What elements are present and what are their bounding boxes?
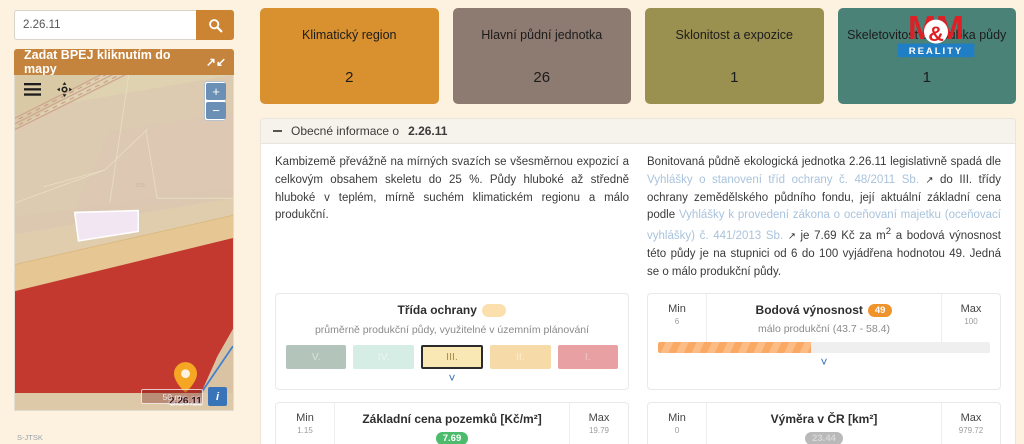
stat-center: Bodová výnosnost49 málo produkční (43.7 …	[706, 294, 942, 342]
class-panel-body: Třída ochranyIII. průměrně produkční půd…	[276, 294, 628, 369]
stat-center: Výměra v ČR [km²] 23.44	[706, 403, 942, 444]
summary-cards: Klimatický region 2 Hlavní půdní jednotk…	[244, 8, 1016, 104]
search-input[interactable]	[14, 10, 196, 40]
stat-progress-track	[658, 342, 990, 353]
card-skeletovitost-a-hloubka-pudy[interactable]: Skeletovitost a hloubka půdy 1	[838, 8, 1017, 104]
class-button-i[interactable]: I.	[558, 345, 618, 369]
class-button-iv[interactable]: IV.	[353, 345, 413, 369]
card-sklonitost-a-expozice[interactable]: Sklonitost a expozice 1	[645, 8, 824, 104]
stat-badge: 23.44	[805, 432, 843, 444]
min-label: Min	[650, 412, 704, 424]
stat-title-text: Bodová výnosnost	[756, 303, 863, 317]
panel-bodova-vynosnost: Min 6 Bodová výnosnost49 málo produkční …	[647, 293, 1001, 390]
class-panel-title: Třída ochranyIII.	[286, 303, 618, 317]
class-buttons-row: V. IV. III. II. I.	[286, 345, 618, 369]
left-description: Kambizemě převážně na mírných svazích se…	[275, 154, 629, 282]
content-column: Klimatický region 2 Hlavní půdní jednotk…	[244, 0, 1024, 444]
map-info-button[interactable]: i	[208, 387, 227, 406]
stat-max: Max 100	[942, 294, 1000, 342]
card-value: 26	[533, 69, 550, 86]
stats-grid: Třída ochranyIII. průměrně produkční půd…	[275, 293, 1001, 444]
stat-min: Min 1.15	[276, 403, 334, 444]
pick-on-map-label: Zadat BPEJ kliknutím do mapy	[24, 48, 206, 76]
card-value: 1	[730, 69, 738, 86]
min-label: Min	[650, 303, 704, 315]
search-icon	[208, 18, 223, 33]
card-title: Skeletovitost a hloubka půdy	[847, 28, 1006, 43]
card-title: Sklonitost a expozice	[676, 28, 793, 43]
class-button-label: II.	[516, 351, 525, 363]
chevron-down-icon[interactable]: ˅	[276, 369, 628, 389]
link-vyhlaska-48-2011[interactable]: Vyhlášky o stanovení tříd ochrany č. 48/…	[647, 174, 919, 186]
map-tiles: 215	[15, 75, 233, 393]
card-title: Klimatický region	[302, 28, 396, 43]
right-text-3: je 7.69 Kč za m	[796, 230, 886, 242]
stat-badge: 49	[868, 304, 893, 317]
card-value: 1	[923, 69, 931, 86]
map-scale-bar: 50 m	[141, 389, 203, 404]
stat-max: Max 19.79	[570, 403, 628, 444]
minus-icon[interactable]	[273, 130, 282, 132]
class-button-iii[interactable]: III.	[421, 345, 483, 369]
stat-badge-wrap: 23.44	[711, 426, 937, 444]
crosshair-locate-icon[interactable]	[57, 82, 72, 97]
class-button-label: I.	[585, 351, 591, 363]
map-left-controls	[24, 82, 72, 97]
class-button-label: IV.	[378, 351, 390, 363]
map-canvas[interactable]: 215	[14, 75, 234, 411]
description-columns: Kambizemě převážně na mírných svazích se…	[275, 154, 1001, 282]
svg-text:215: 215	[135, 183, 144, 189]
stat-subtitle: málo produkční (43.7 - 58.4)	[711, 323, 937, 335]
stat-min: Min 0	[648, 403, 706, 444]
stat-min: Min 6	[648, 294, 706, 342]
map-zoom-controls: + −	[204, 81, 226, 121]
chevron-down-icon[interactable]: ˅	[648, 353, 1000, 373]
max-value: 979.72	[944, 426, 998, 435]
right-text-1: Bonitovaná půdně ekologická jednotka 2.2…	[647, 156, 1001, 168]
stat-header: Min 1.15 Základní cena pozemků [Kč/m²] 7…	[276, 403, 628, 444]
stat-title: Bodová výnosnost49	[711, 303, 937, 317]
max-label: Max	[944, 412, 998, 424]
stat-badge-wrap: 7.69	[339, 426, 565, 444]
right-description: Bonitovaná půdně ekologická jednotka 2.2…	[647, 154, 1001, 282]
section-title-code: 2.26.11	[408, 124, 447, 138]
bpej-app: Zadat BPEJ kliknutím do mapy ↗↙	[0, 0, 1024, 444]
card-hlavni-pudni-jednotka[interactable]: Hlavní půdní jednotka 26	[453, 8, 632, 104]
search-button[interactable]	[196, 10, 234, 40]
map-scale-label: 50 m	[163, 392, 182, 402]
max-value: 19.79	[572, 426, 626, 435]
stat-progress-fill	[658, 342, 811, 353]
stat-max: Max 979.72	[942, 403, 1000, 444]
stat-header: Min 6 Bodová výnosnost49 málo produkční …	[648, 294, 1000, 342]
panel-trida-ochrany: Třída ochranyIII. průměrně produkční půd…	[275, 293, 629, 390]
class-button-label: III.	[446, 351, 458, 363]
stat-center: Základní cena pozemků [Kč/m²] 7.69	[334, 403, 570, 444]
stat-header: Min 0 Výměra v ČR [km²] 23.44 Max 979.72	[648, 403, 1000, 444]
max-value: 100	[944, 317, 998, 326]
min-label: Min	[278, 412, 332, 424]
class-badge: III.	[482, 304, 507, 317]
class-title-text: Třída ochrany	[398, 303, 477, 317]
class-button-v[interactable]: V.	[286, 345, 346, 369]
class-button-ii[interactable]: II.	[490, 345, 550, 369]
card-klimaticky-region[interactable]: Klimatický region 2	[260, 8, 439, 104]
section-header[interactable]: Obecné informace o 2.26.11	[261, 119, 1015, 144]
card-title: Hlavní půdní jednotka	[481, 28, 602, 43]
stat-title: Výměra v ČR [km²]	[711, 412, 937, 426]
search-row	[14, 10, 234, 40]
expand-icon[interactable]: ↗↙	[206, 56, 226, 68]
min-value: 0	[650, 426, 704, 435]
zoom-in-button[interactable]: +	[206, 83, 226, 100]
min-value: 1.15	[278, 426, 332, 435]
class-button-label: V.	[312, 351, 321, 363]
panel-zakladni-cena-pozemku: Min 1.15 Základní cena pozemků [Kč/m²] 7…	[275, 402, 629, 444]
stat-title: Základní cena pozemků [Kč/m²]	[339, 412, 565, 426]
panel-vymera-v-cr: Min 0 Výměra v ČR [km²] 23.44 Max 979.72	[647, 402, 1001, 444]
min-value: 6	[650, 317, 704, 326]
section-body: Kambizemě převážně na mírných svazích se…	[261, 144, 1015, 444]
zoom-out-button[interactable]: −	[206, 102, 226, 119]
hamburger-menu-icon[interactable]	[24, 83, 41, 96]
external-link-icon[interactable]: ↗	[788, 231, 796, 242]
max-label: Max	[944, 303, 998, 315]
max-label: Max	[572, 412, 626, 424]
stat-badge: 7.69	[436, 432, 469, 444]
general-info-section: Obecné informace o 2.26.11 Kambizemě pře…	[260, 118, 1016, 444]
coordinate-system-label: S-JTSK	[17, 433, 43, 442]
section-title: Obecné informace o	[291, 124, 399, 138]
info-icon: i	[216, 391, 219, 403]
class-panel-subtitle: průměrně produkční půdy, využitelné v úz…	[286, 324, 618, 336]
pick-on-map-bar[interactable]: Zadat BPEJ kliknutím do mapy ↗↙	[14, 49, 234, 75]
map-panel: Zadat BPEJ kliknutím do mapy ↗↙	[0, 0, 244, 444]
card-value: 2	[345, 69, 353, 86]
